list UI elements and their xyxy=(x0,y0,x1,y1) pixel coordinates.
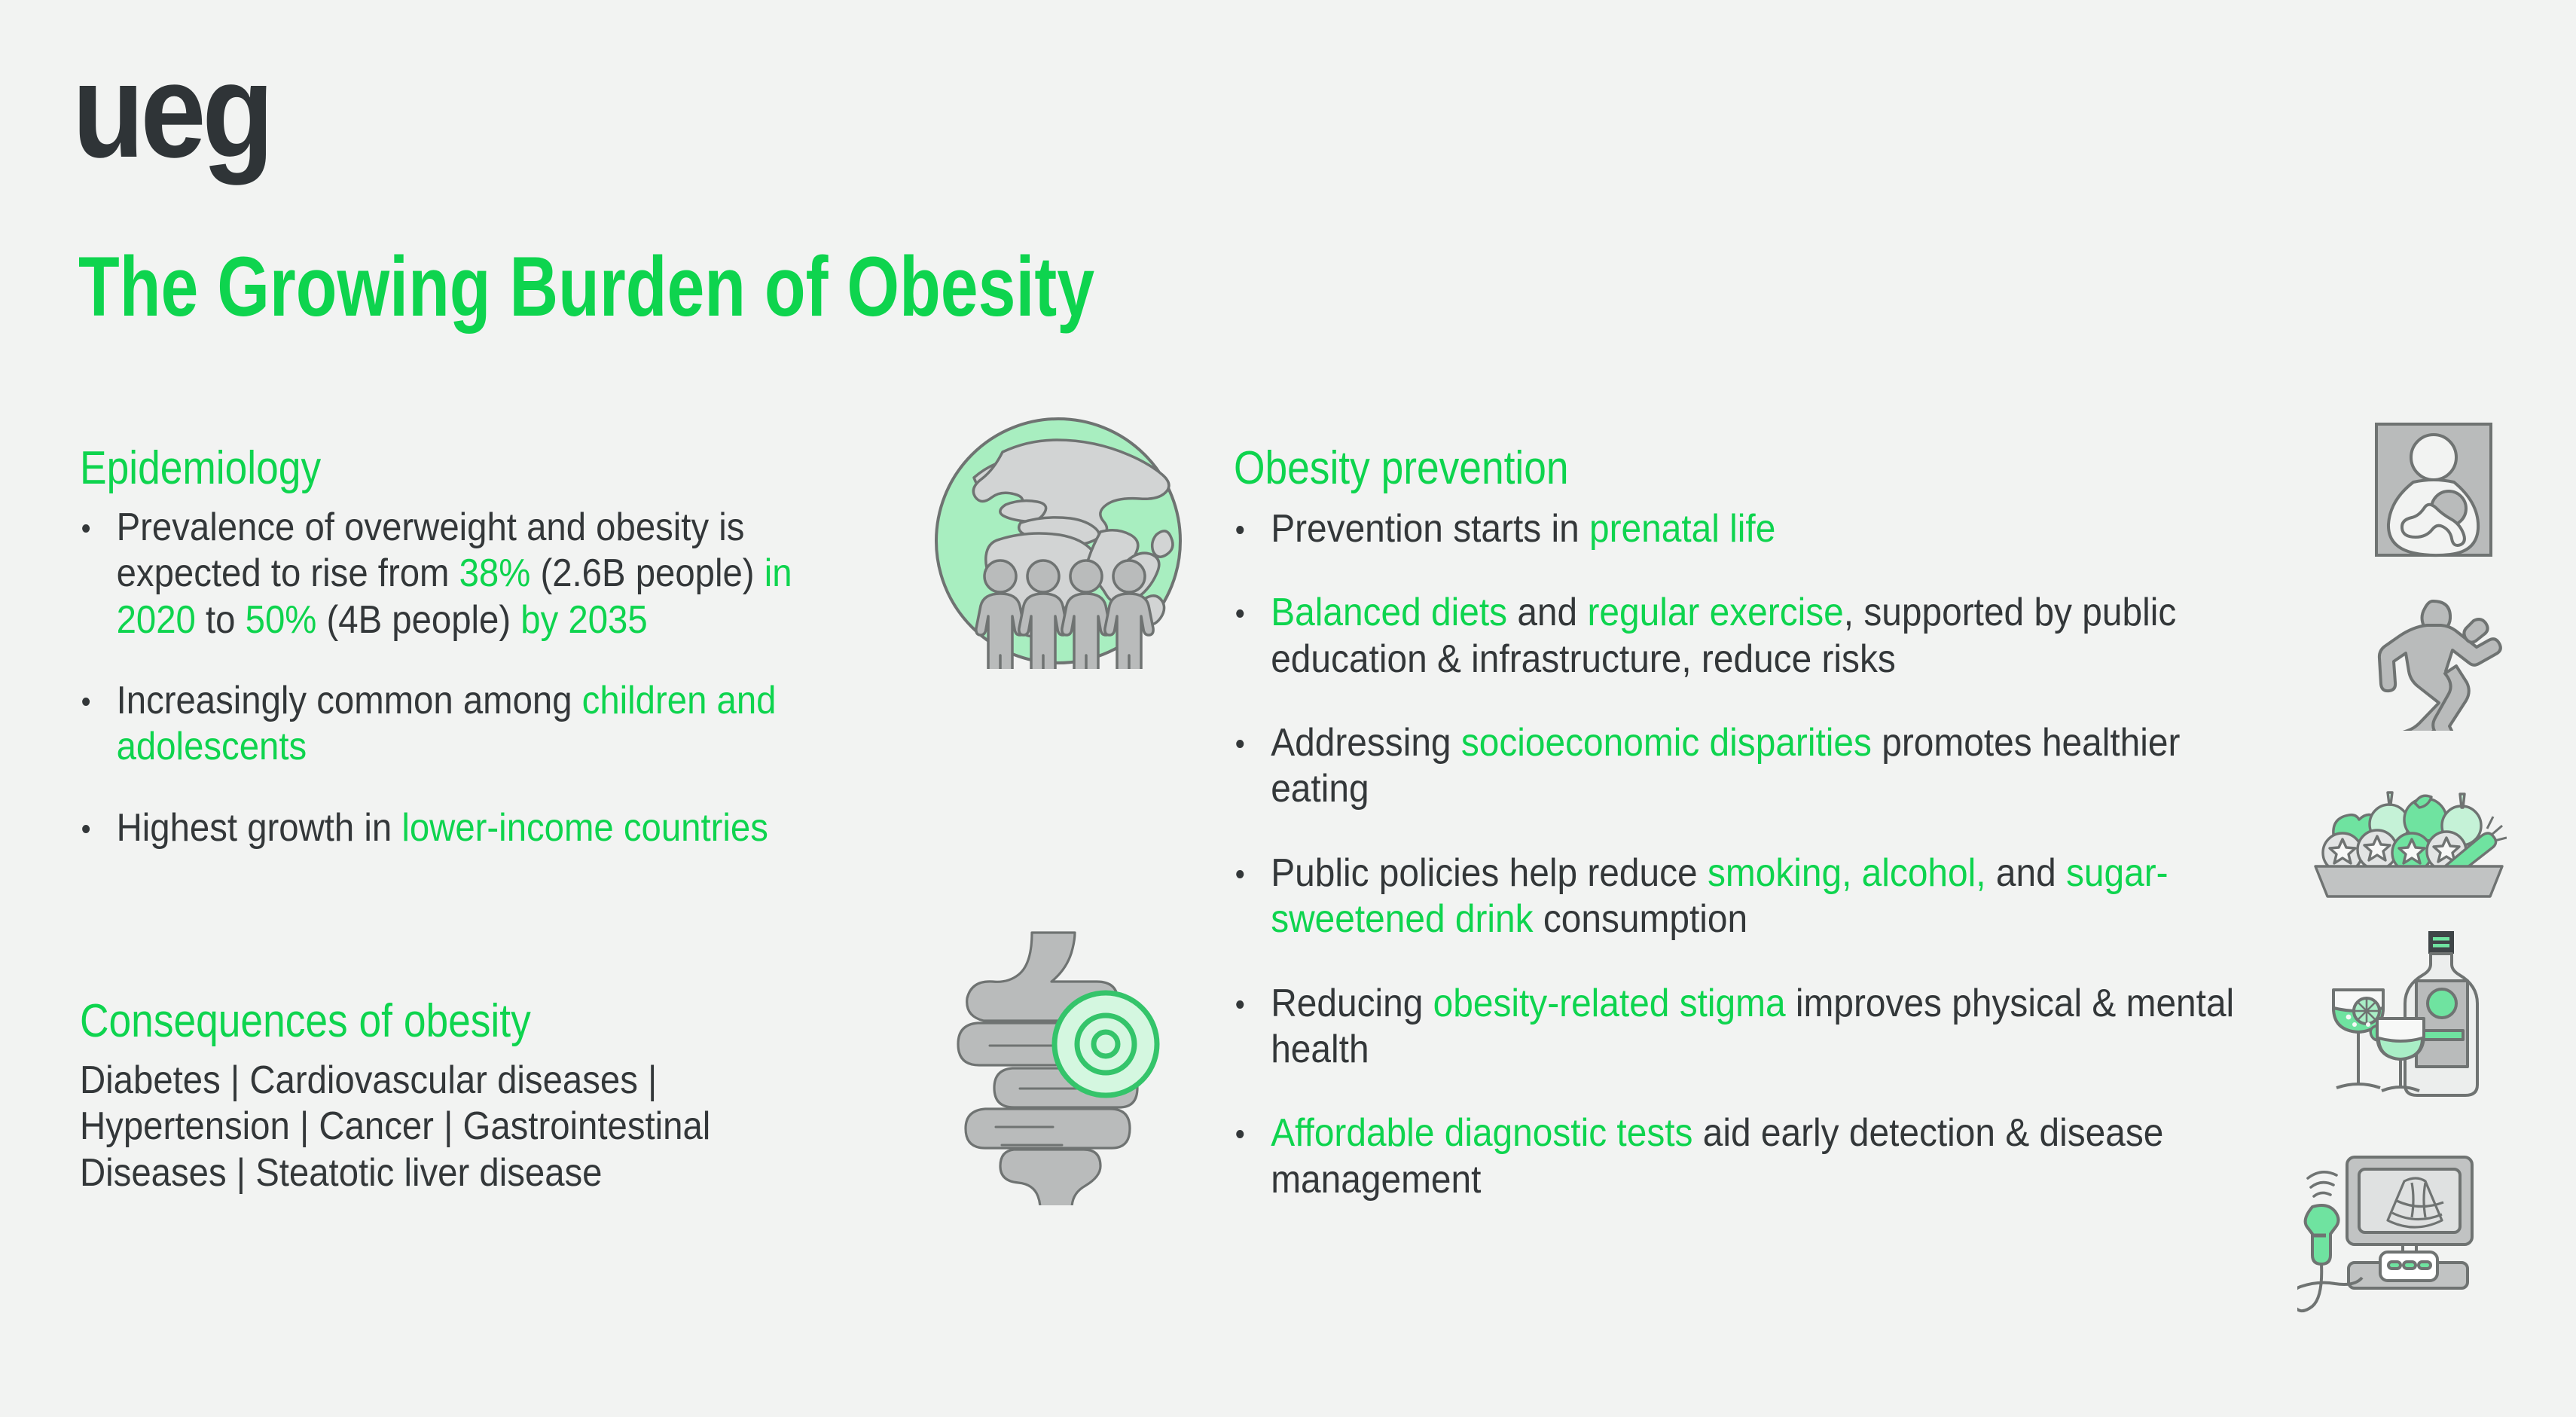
highlight-text: obesity-related stigma xyxy=(1433,982,1786,1025)
plain-text: Reducing xyxy=(1271,982,1433,1025)
plain-text: and xyxy=(1507,591,1587,634)
highlight-text: smoking, alcohol, xyxy=(1708,851,1986,895)
highlight-text: 38% xyxy=(459,551,531,595)
intestine-icon xyxy=(948,927,1174,1205)
list-item: Reducing obesity-related stigma improves… xyxy=(1229,981,2255,1073)
running-person-icon xyxy=(2361,595,2504,731)
highlight-text: 50% xyxy=(246,598,317,642)
section-heading-consequences: Consequences of obesity xyxy=(80,996,531,1047)
plain-text: Prevention starts in xyxy=(1271,507,1589,551)
list-item: Balanced diets and regular exercise, sup… xyxy=(1229,590,2255,683)
page-title: The Growing Burden of Obesity xyxy=(78,240,1094,334)
highlight-text: Affordable diagnostic tests xyxy=(1271,1111,1692,1155)
ultrasound-icon xyxy=(2297,1151,2516,1354)
plain-text: (4B people) xyxy=(316,598,520,642)
highlight-text: Balanced diets xyxy=(1271,591,1507,634)
plain-text: consumption xyxy=(1534,897,1748,941)
prevention-bullet-list: Prevention starts in prenatal lifeBalanc… xyxy=(1229,506,2255,1241)
highlight-text: socioeconomic disparities xyxy=(1461,721,1872,765)
plain-text: to xyxy=(196,598,246,642)
intestine-target-illustration xyxy=(948,927,1174,1205)
list-item: Prevention starts in prenatal life xyxy=(1229,506,2255,552)
plain-text: Addressing xyxy=(1271,721,1461,765)
epidemiology-bullet-list: Prevalence of overweight and obesity is … xyxy=(75,505,843,886)
plain-text: Increasingly common among xyxy=(117,679,582,722)
plain-text: Highest growth in xyxy=(117,806,402,850)
list-item: Increasingly common among children and a… xyxy=(75,678,843,771)
highlight-text: lower-income countries xyxy=(401,806,768,850)
ultrasound-machine-icon xyxy=(2297,1151,2516,1354)
list-item: Affordable diagnostic tests aid early de… xyxy=(1229,1110,2255,1203)
alcohol-icon xyxy=(2320,925,2523,1100)
infographic-slide: ueg The Growing Burden of Obesity Epidem… xyxy=(0,0,2576,1417)
plain-text: Public policies help reduce xyxy=(1271,851,1708,895)
breastfeeding-icon xyxy=(2374,422,2493,557)
runner-icon xyxy=(2361,595,2504,731)
globe-icon xyxy=(930,413,1186,669)
list-item: Public policies help reduce smoking, alc… xyxy=(1229,851,2255,943)
list-item: Addressing socioeconomic disparities pro… xyxy=(1229,720,2255,813)
list-item: Prevalence of overweight and obesity is … xyxy=(75,505,843,643)
list-item: Highest growth in lower-income countries xyxy=(75,805,843,851)
plain-text: and xyxy=(1986,851,2066,895)
prenatal-breastfeeding-icon xyxy=(2374,422,2493,557)
vegetables-icon xyxy=(2311,788,2507,901)
alcohol-bottle-glasses-icon xyxy=(2320,925,2523,1100)
ueg-logo: ueg xyxy=(72,44,270,178)
section-heading-obesity-prevention: Obesity prevention xyxy=(1234,443,1569,494)
consequences-body-text: Diabetes | Cardiovascular diseases | Hyp… xyxy=(80,1058,834,1196)
highlight-text: by 2035 xyxy=(520,598,647,642)
globe-with-people-illustration xyxy=(930,413,1186,669)
plain-text: (2.6B people) xyxy=(530,551,764,595)
section-heading-epidemiology: Epidemiology xyxy=(80,443,321,494)
highlight-text: prenatal life xyxy=(1589,507,1775,551)
vegetable-tray-icon xyxy=(2311,788,2507,901)
highlight-text: regular exercise xyxy=(1587,591,1843,634)
